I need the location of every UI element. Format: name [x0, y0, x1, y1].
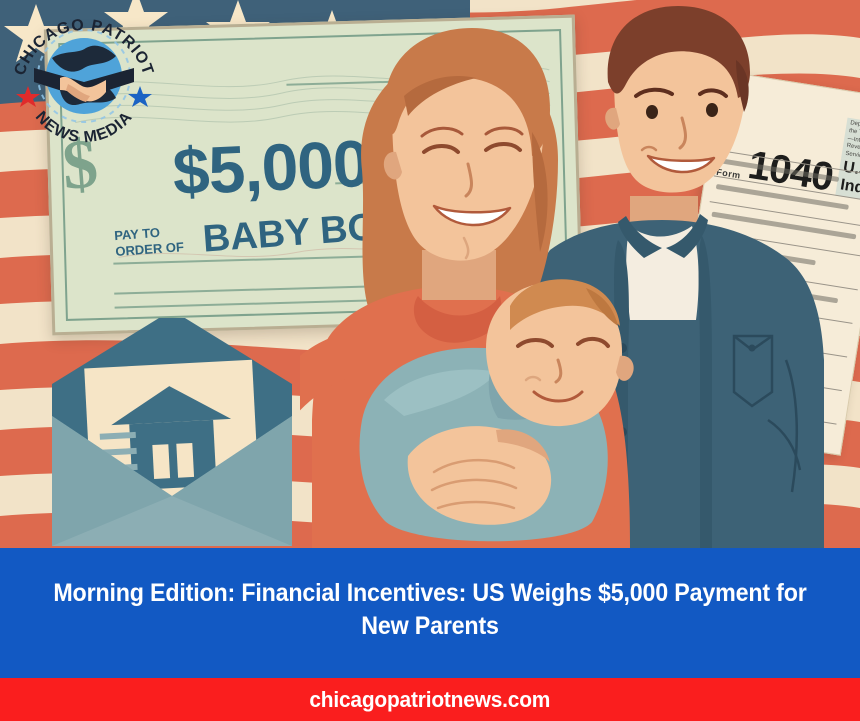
article-artwork: Form 1040 Department of the Treasury—Int…	[0, 0, 860, 548]
family-illustration	[300, 0, 860, 548]
check-pay-to-order-of-label: PAY TO ORDER OF	[114, 223, 185, 260]
article-headline-banner: Morning Edition: Financial Incentives: U…	[0, 548, 860, 678]
website-url-banner[interactable]: chicagopatriotnews.com	[0, 678, 860, 721]
open-envelope-with-letter	[48, 318, 296, 548]
news-thumbnail-card: Form 1040 Department of the Treasury—Int…	[0, 0, 860, 721]
blue-star-icon	[128, 86, 152, 107]
logo-bottom-arc-text: NEWS MEDIA	[32, 108, 136, 146]
red-star-icon	[16, 86, 40, 107]
chicago-patriot-news-media-logo: CHICAGO PATRIOT NEWS MEDIA	[8, 6, 160, 146]
headline-text: Morning Edition: Financial Incentives: U…	[43, 577, 817, 643]
website-url-text[interactable]: chicagopatriotnews.com	[310, 687, 551, 713]
